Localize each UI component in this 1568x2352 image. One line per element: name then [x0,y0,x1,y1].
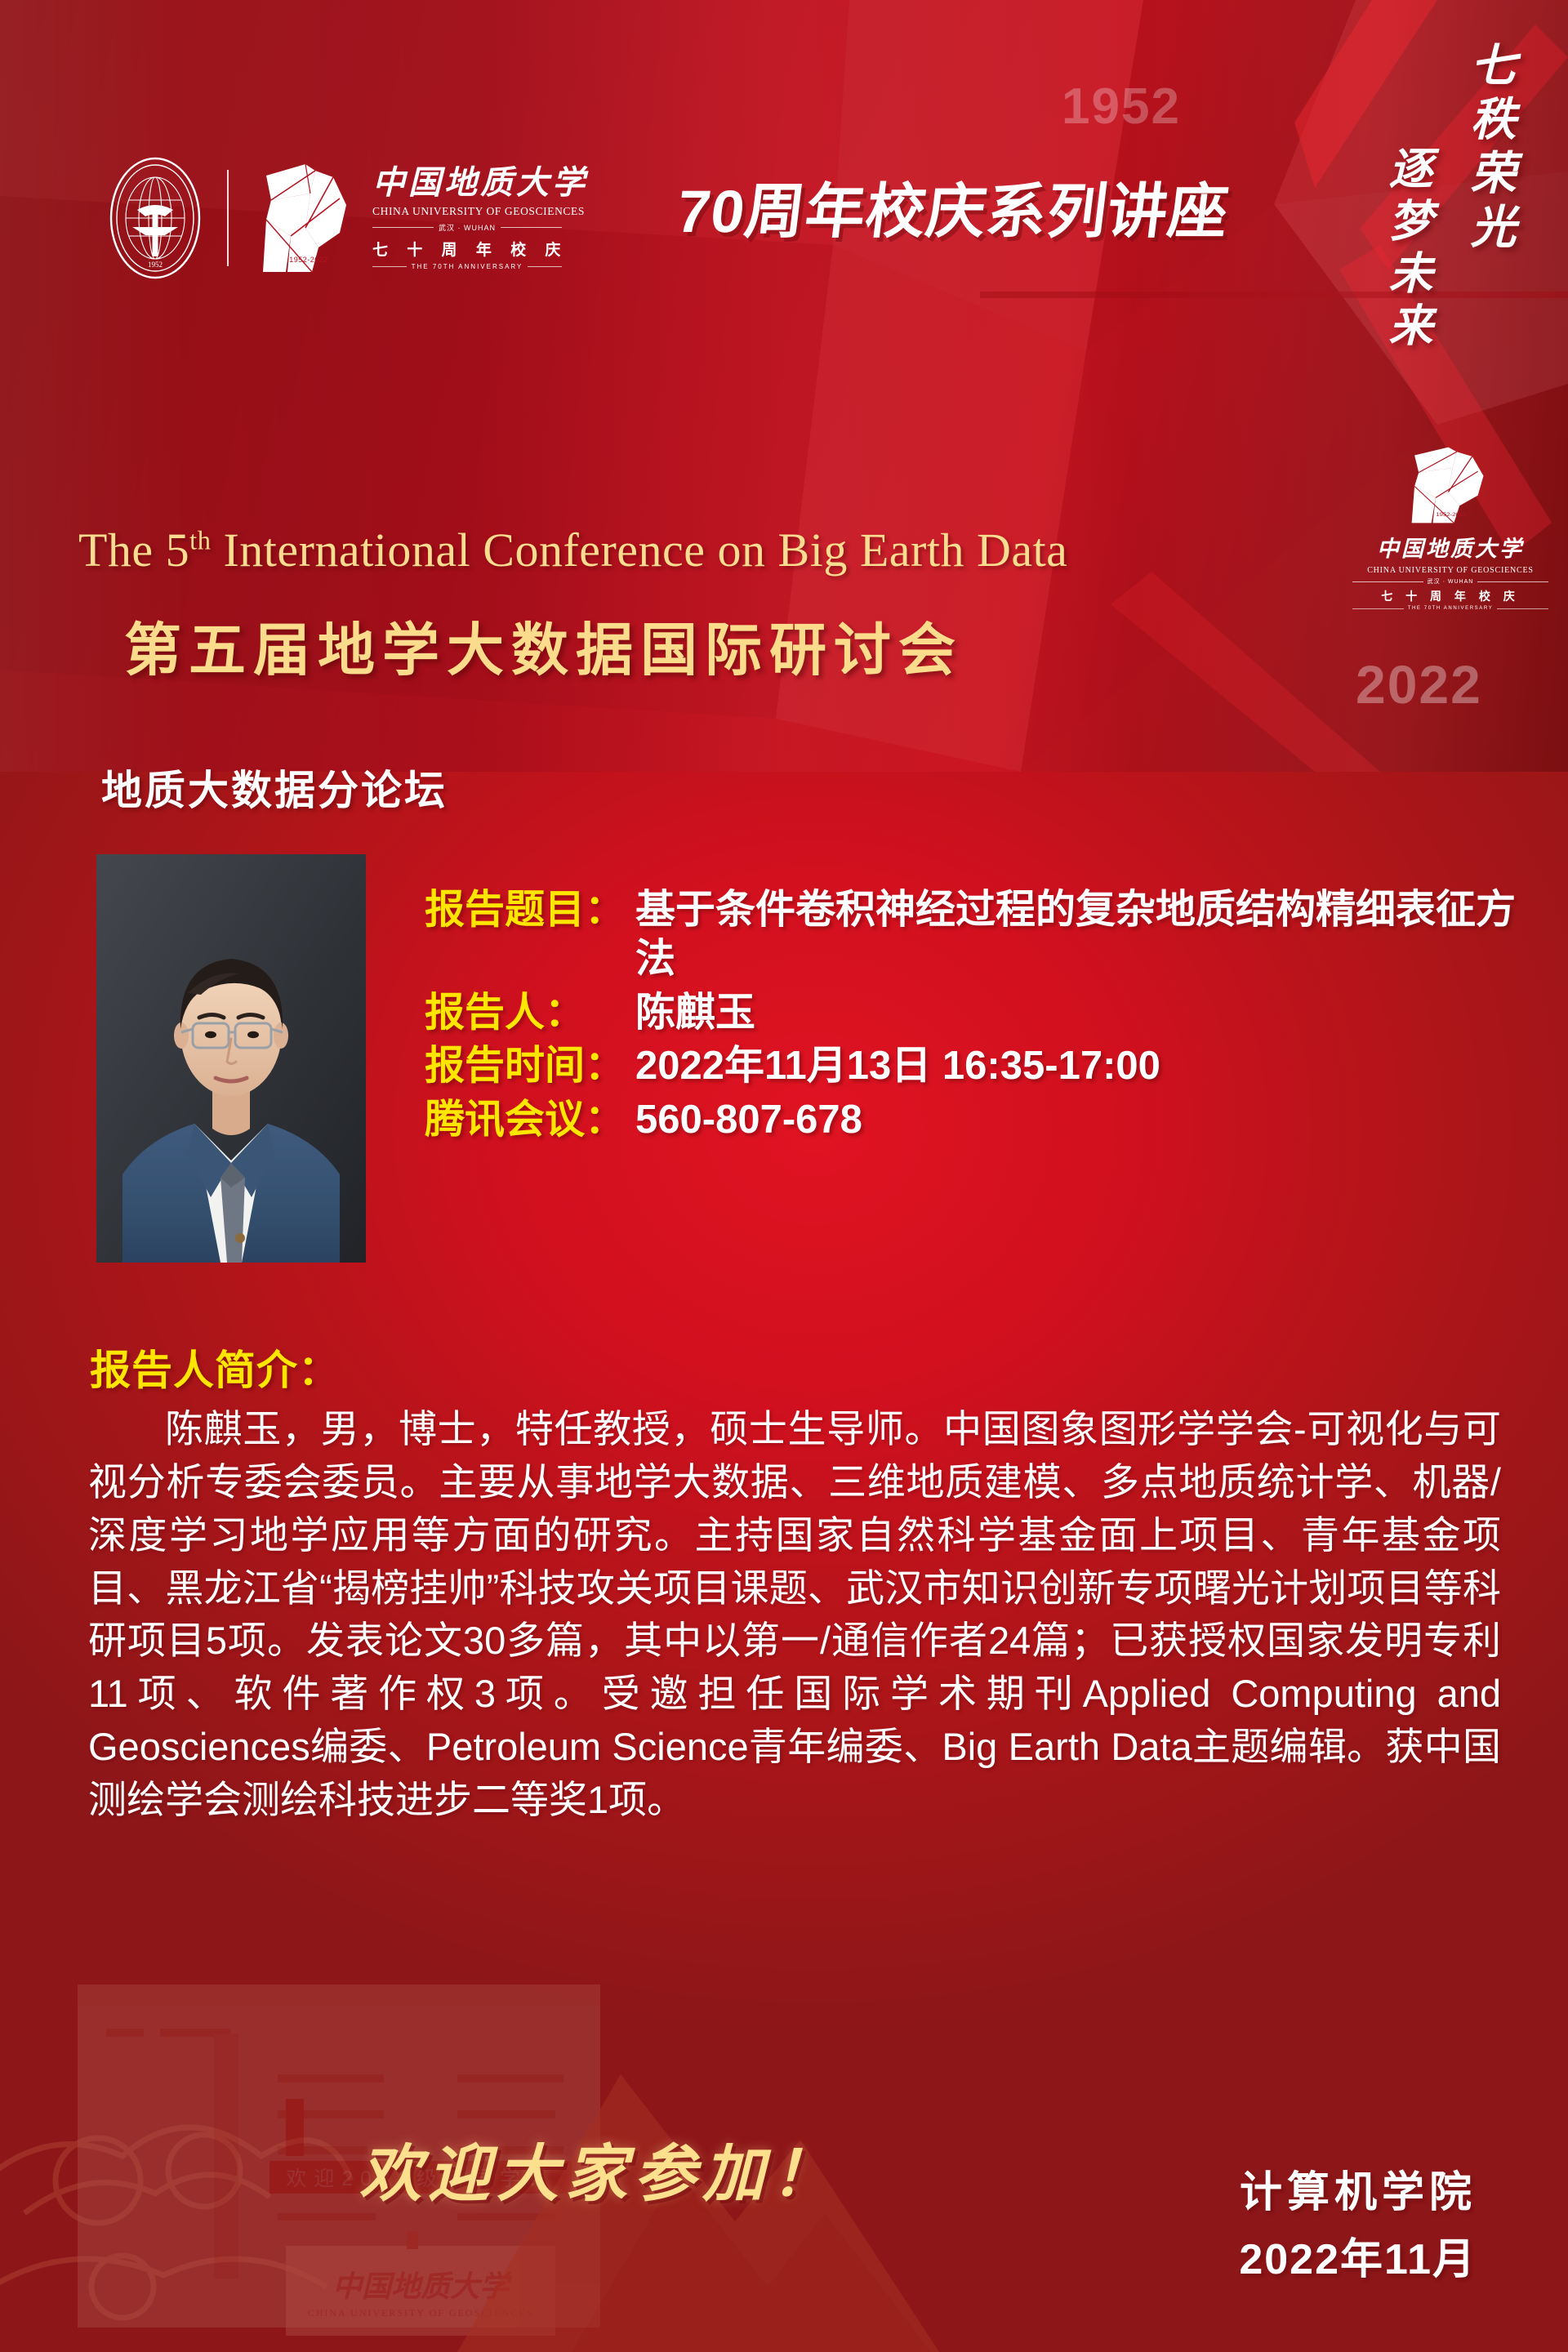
detail-value-time: 2022年11月13日 16:35-17:00 [635,1042,1552,1091]
wordmark-rule-anniversary: THE 70TH ANNIVERSARY [372,263,562,270]
badge-anniversary-en: THE 70TH ANNIVERSARY [1408,606,1494,611]
seal-year-text: 1952 [148,261,163,269]
detail-label-meeting: 腾讯会议： [425,1096,635,1145]
detail-value-meeting-id: 560-807-678 [635,1096,1552,1145]
badge-rule-anniversary: THE 70TH ANNIVERSARY [1352,606,1548,611]
detail-value-speaker: 陈麒玉 [635,989,1552,1038]
conference-title-en-suffix: International Conference on Big Earth Da… [211,523,1067,577]
university-name-cn: 中国地质大学 [372,167,562,199]
anniversary-en: THE 70TH ANNIVERSARY [412,263,523,270]
decor-podium-name-en: CHINA UNIVERSITY OF GEOSCIENCES [308,2307,534,2319]
calligraphy-slogan-line1: 七秩荣光 [1456,41,1522,256]
subforum-title: 地质大数据分论坛 [101,758,448,817]
lecture-series-headline: 70周年校庆系列讲座 [672,163,1234,250]
campus-decoration-illustration: 欢迎2021级新同学！ 中国地质大学 CHINA UNIVERSITY OF G… [0,1829,1021,2352]
conference-title-en: The 5th International Conference on Big … [78,523,1067,577]
badge-campus: 武汉 · WUHAN [1428,577,1474,586]
badge-university-name-cn: 中国地质大学 [1352,531,1548,563]
conference-title-cn: 第五届地学大数据国际研讨会 [124,604,963,687]
badge-university-name-en: CHINA UNIVERSITY OF GEOSCIENCES [1352,566,1548,575]
conference-title-en-prefix: The 5 [78,523,189,577]
talk-details: 报告题目： 基于条件卷积神经过程的复杂地质结构精细表征方法 报告人： 陈麒玉 报… [425,886,1552,1150]
speaker-portrait-photo [96,854,366,1263]
badge-70-mark-icon: 1952-2022 [1405,443,1496,528]
university-wordmark: 中国地质大学 CHINA UNIVERSITY OF GEOSCIENCES 武… [372,167,562,270]
detail-value-topic: 基于条件卷积神经过程的复杂地质结构精细表征方法 [635,886,1552,984]
detail-row-topic: 报告题目： 基于条件卷积神经过程的复杂地质结构精细表征方法 [425,886,1552,984]
anniversary-70-mark-icon: 1952-2022 [255,158,361,278]
organizer-name: 计算机学院 [1240,2158,1477,2219]
badge-rule-campus: 武汉 · WUHAN [1352,577,1548,586]
detail-label-topic: 报告题目： [425,886,635,935]
poster-root: 1952 2022 七秩荣光 逐梦未来 195 [0,0,1568,2352]
cug-seal-icon: 1952 [108,155,203,281]
detail-label-time: 报告时间： [425,1042,635,1091]
wordmark-rule-campus: 武汉 · WUHAN [372,222,562,233]
bio-heading: 报告人简介： [90,1338,340,1396]
badge-mark-years-text: 1952-2022 [1436,512,1466,517]
bio-text: 陈麒玉，男，博士，特任教授，硕士生导师。中国图象图形学学会-可视化与可视分析专委… [88,1403,1501,1827]
detail-row-speaker: 报告人： 陈麒玉 [425,989,1552,1038]
anniversary-cn: 七 十 周 年 校 庆 [372,238,562,260]
university-logo-row: 1952 1952-2022 [108,155,562,281]
detail-row-time: 报告时间： 2022年11月13日 16:35-17:00 [425,1042,1552,1091]
detail-row-meeting: 腾讯会议： 560-807-678 [425,1096,1552,1145]
conference-title-en-ordinal: th [189,527,211,556]
welcome-message: 欢迎大家参加！ [359,2123,840,2213]
mark-years-text: 1952-2022 [289,256,328,264]
university-campus: 武汉 · WUHAN [439,222,496,233]
badge-anniversary-cn: 七 十 周 年 校 庆 [1352,588,1548,604]
cug-anniversary-badge: 1952-2022 中国地质大学 CHINA UNIVERSITY OF GEO… [1352,443,1548,611]
calligraphy-slogan-line2: 逐梦未来 [1374,145,1439,354]
poster-date: 2022年11月 [1239,2225,1477,2286]
university-name-en: CHINA UNIVERSITY OF GEOSCIENCES [372,205,562,218]
year-2022-watermark: 2022 [1356,653,1482,715]
logo-divider [227,170,229,266]
detail-label-speaker: 报告人： [425,989,635,1038]
year-1952-watermark: 1952 [1062,78,1181,136]
decor-podium-name-cn: 中国地质大学 [332,2270,513,2303]
